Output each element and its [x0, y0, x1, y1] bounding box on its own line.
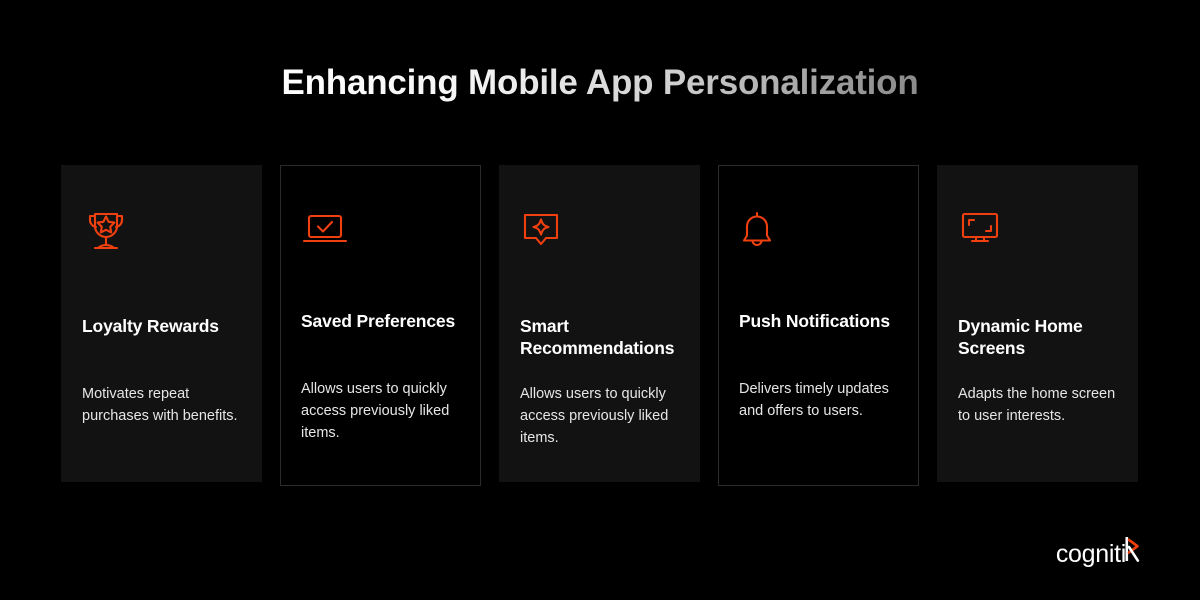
- feature-card-saved-preferences[interactable]: Saved Preferences Allows users to quickl…: [280, 165, 481, 486]
- feature-card-loyalty-rewards[interactable]: Loyalty Rewards Motivates repeat purchas…: [61, 165, 262, 482]
- monitor-corners-icon: [958, 209, 1118, 255]
- feature-card-description: Allows users to quickly access previousl…: [520, 383, 692, 449]
- k-chevron-mark-icon: [1125, 536, 1140, 567]
- feature-card-dynamic-home-screens[interactable]: Dynamic Home Screens Adapts the home scr…: [937, 165, 1138, 482]
- brand-logo-text: cogniti: [1056, 542, 1126, 567]
- slide-root: Enhancing Mobile App Personalization Loy…: [0, 0, 1200, 600]
- feature-card-description: Motivates repeat purchases with benefits…: [82, 383, 254, 427]
- feature-card-title: Saved Preferences: [301, 310, 471, 332]
- trophy-star-icon: [82, 209, 242, 255]
- feature-card-description: Adapts the home screen to user interests…: [958, 383, 1130, 427]
- bell-icon: [740, 210, 898, 256]
- title-container: Enhancing Mobile App Personalization: [0, 62, 1200, 103]
- feature-card-description: Delivers timely updates and offers to us…: [739, 378, 911, 422]
- page-title: Enhancing Mobile App Personalization: [281, 62, 918, 103]
- feature-card-push-notifications[interactable]: Push Notifications Delivers timely updat…: [718, 165, 919, 486]
- feature-card-row: Loyalty Rewards Motivates repeat purchas…: [61, 165, 1141, 487]
- feature-card-title: Dynamic Home Screens: [958, 315, 1128, 360]
- speech-bubble-sparkle-icon: [520, 209, 680, 255]
- feature-card-title: Smart Recommendations: [520, 315, 690, 360]
- feature-card-title: Push Notifications: [739, 310, 909, 332]
- feature-card-description: Allows users to quickly access previousl…: [301, 378, 473, 444]
- feature-card-title: Loyalty Rewards: [82, 315, 252, 337]
- feature-card-smart-recommendations[interactable]: Smart Recommendations Allows users to qu…: [499, 165, 700, 482]
- brand-logo: cogniti: [1056, 536, 1140, 562]
- laptop-check-icon: [302, 210, 460, 256]
